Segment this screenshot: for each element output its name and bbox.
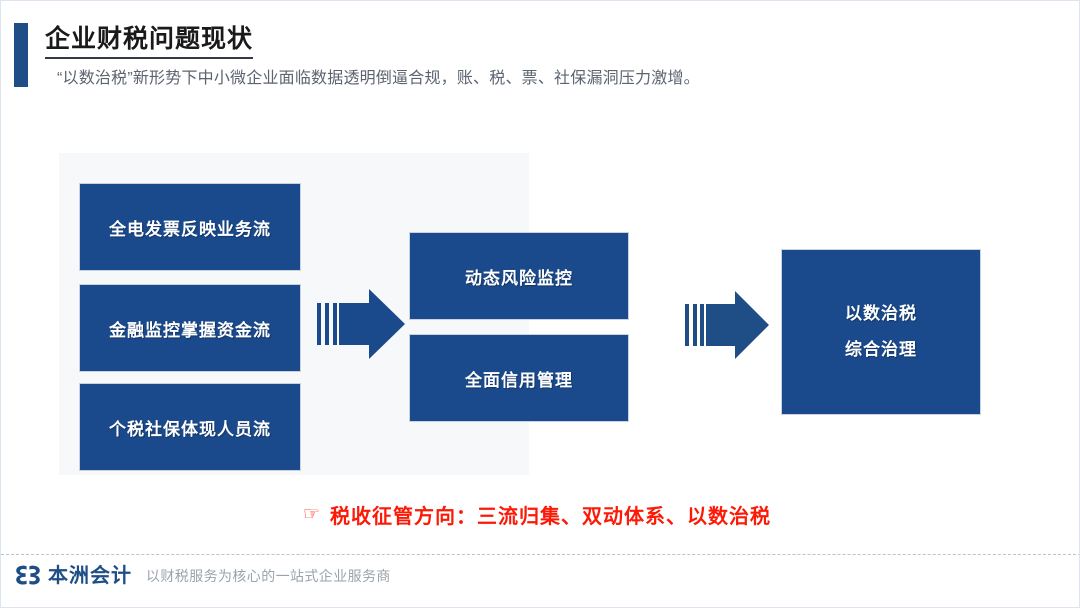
footer-tagline: 以财税服务为核心的一站式企业服务商 (146, 569, 391, 583)
right-box-outcome[interactable]: 以数治税 综合治理 (781, 249, 981, 415)
middle-box-2[interactable]: 全面信用管理 (409, 334, 629, 422)
footer-divider (1, 554, 1080, 555)
arrow-left-to-middle (315, 287, 407, 366)
right-arrow-icon (683, 289, 771, 361)
callout-text: 税收征管方向：三流归集、双动体系、以数治税 (330, 500, 771, 529)
left-box-2-label: 金融监控掌握资金流 (109, 316, 271, 341)
callout-banner: ☞ 税收征管方向：三流归集、双动体系、以数治税 (303, 500, 771, 529)
left-box-1[interactable]: 全电发票反映业务流 (79, 183, 301, 271)
slide-canvas: 企业财税问题现状 “以数治税”新形势下中小微企业面临数据透明倒逼合规，账、税、票… (0, 0, 1080, 608)
left-box-3-label: 个税社保体现人员流 (109, 415, 271, 440)
middle-box-1[interactable]: 动态风险监控 (409, 232, 629, 320)
pointing-hand-icon: ☞ (303, 505, 321, 524)
left-box-1-label: 全电发票反映业务流 (109, 215, 271, 240)
middle-box-1-label: 动态风险监控 (465, 264, 573, 289)
footer-brand-name: 本洲会计 (48, 566, 132, 586)
right-arrow-icon (315, 287, 407, 361)
right-box-line-1: 以数治税 (845, 296, 917, 332)
middle-box-2-label: 全面信用管理 (465, 366, 573, 391)
arrow-middle-to-right (683, 289, 771, 366)
left-box-2[interactable]: 金融监控掌握资金流 (79, 284, 301, 372)
footer: 本洲会计 以财税服务为核心的一站式企业服务商 (15, 564, 391, 588)
left-box-3[interactable]: 个税社保体现人员流 (79, 383, 301, 471)
brand-logo-icon (15, 564, 41, 588)
right-box-line-2: 综合治理 (845, 332, 917, 368)
